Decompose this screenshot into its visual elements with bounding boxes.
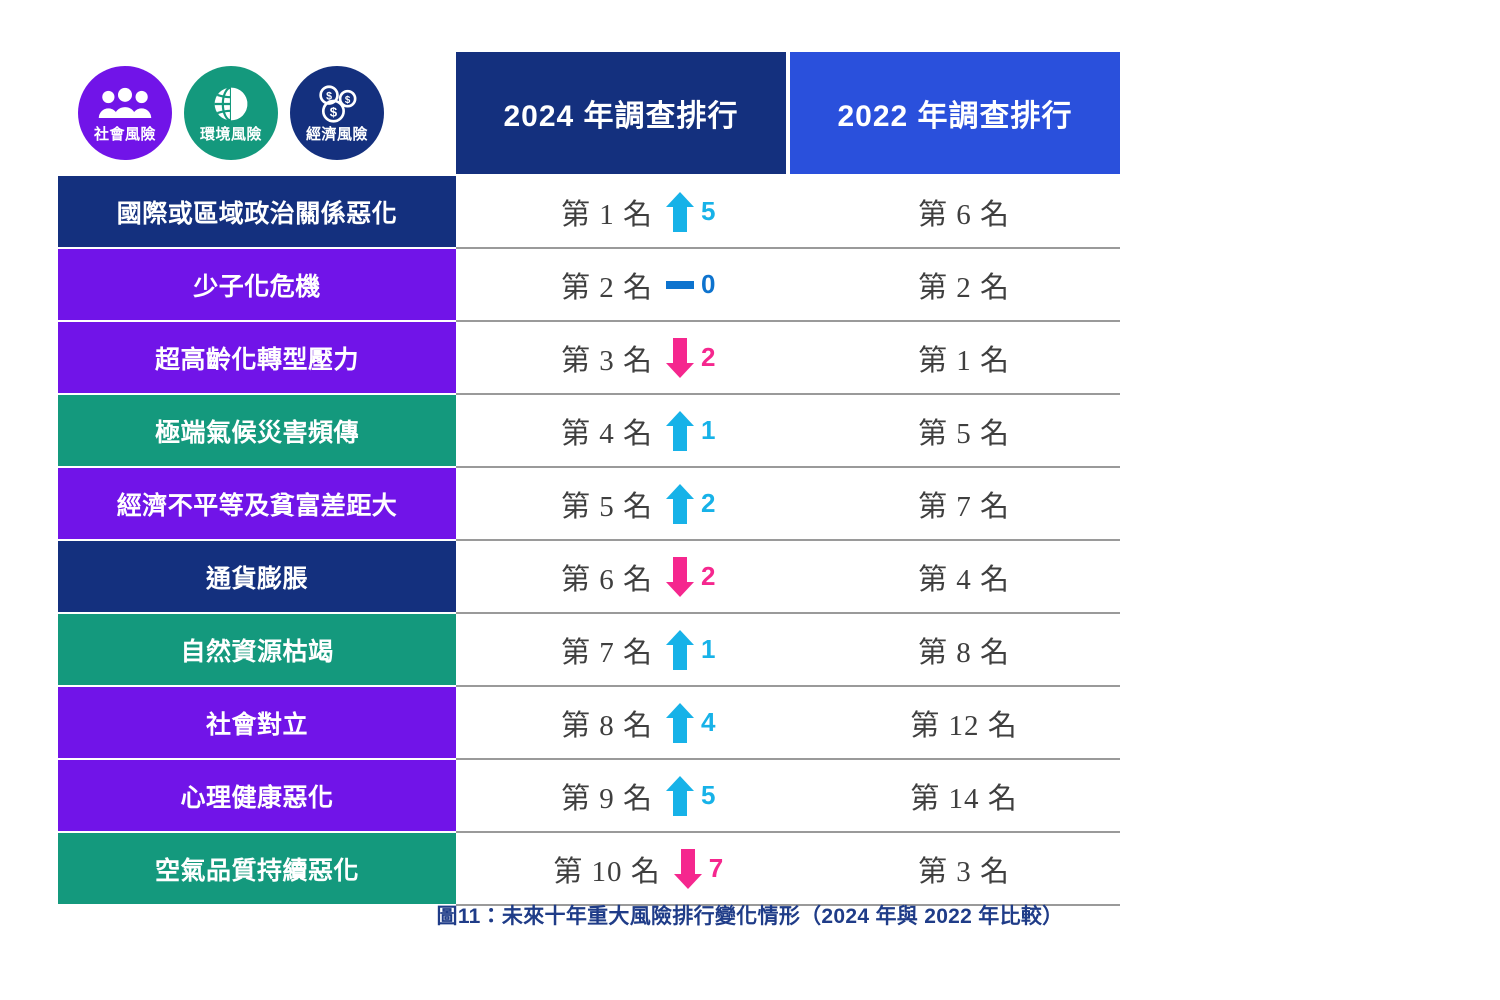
risk-name-cell: 自然資源枯竭 [58,614,456,687]
coins-icon: $ $ $ [314,83,360,125]
rank-2024-label: 第 5 名 [561,483,653,525]
globe-icon [211,83,251,125]
rank-change-indicator: 2 [665,555,743,599]
risk-name-cell: 少子化危機 [58,249,456,322]
arrow-down-icon [673,847,703,891]
rank-change-indicator: 4 [665,701,743,745]
risk-name-cell: 經濟不平等及貧富差距大 [58,468,456,541]
arrow-up-icon [665,190,695,234]
rank-change-indicator: 5 [665,774,743,818]
column-header-2022: 2022 年調查排行 [790,52,1120,174]
rank-2024-label: 第 9 名 [561,775,653,817]
rank-change-indicator: 1 [665,409,743,453]
rank-change-indicator: 0 [665,263,743,307]
rank-2022-cell: 第 12 名 [808,687,1120,758]
rank-2024-cell: 第 3 名2 [456,322,808,393]
rank-2024-cell: 第 2 名0 [456,249,808,320]
rank-change-indicator: 5 [665,190,743,234]
table-header-row: 社會風險 環境風險 [58,52,1120,174]
rank-2022-cell: 第 8 名 [808,614,1120,685]
rank-change-indicator: 1 [665,628,743,672]
risk-ranking-table: 社會風險 環境風險 [58,52,1120,906]
arrow-up-icon [665,409,695,453]
table-row: 極端氣候災害頻傳第 4 名1第 5 名 [58,395,1120,468]
rank-2024-cell: 第 4 名1 [456,395,808,466]
risk-name-label: 少子化危機 [193,267,321,303]
arrow-down-icon [665,336,695,380]
column-header-2022-label: 2022 年調查排行 [837,91,1072,135]
risk-name-cell: 極端氣候災害頻傳 [58,395,456,468]
risk-name-label: 國際或區域政治關係惡化 [117,194,398,230]
risk-name-label: 超高齡化轉型壓力 [155,340,359,376]
rank-2022-label: 第 2 名 [918,264,1010,306]
risk-name-cell: 社會對立 [58,687,456,760]
arrow-up-icon [665,774,695,818]
risk-name-label: 自然資源枯竭 [180,632,333,668]
rank-change-value: 2 [701,561,715,592]
rank-change-value: 5 [701,196,715,227]
table-row: 自然資源枯竭第 7 名1第 8 名 [58,614,1120,687]
rank-2024-cell: 第 6 名2 [456,541,808,612]
legend-item-economic: $ $ $ 經濟風險 [290,66,384,160]
rank-2022-cell: 第 3 名 [808,833,1120,904]
risk-name-label: 經濟不平等及貧富差距大 [117,486,398,522]
legend-item-social-label: 社會風險 [94,127,156,142]
arrow-up-icon [665,701,695,745]
legend: 社會風險 環境風險 [58,52,456,174]
arrow-down-icon [665,555,695,599]
risk-name-cell: 超高齡化轉型壓力 [58,322,456,395]
arrow-up-icon [665,482,695,526]
rank-2024-cell: 第 10 名7 [456,833,808,904]
table-row: 通貨膨脹第 6 名2第 4 名 [58,541,1120,614]
rank-change-value: 2 [701,488,715,519]
rank-2022-label: 第 7 名 [918,483,1010,525]
svg-text:$: $ [326,90,332,102]
table-row: 經濟不平等及貧富差距大第 5 名2第 7 名 [58,468,1120,541]
legend-item-social: 社會風險 [78,66,172,160]
legend-item-environment-label: 環境風險 [200,127,262,142]
rank-2022-label: 第 12 名 [910,702,1018,744]
rank-change-value: 2 [701,342,715,373]
rank-change-value: 1 [701,415,715,446]
rank-2024-label: 第 10 名 [553,848,661,890]
figure-caption: 圖11：未來十年重大風險排行變化情形（2024 年與 2022 年比較） [0,900,1500,930]
risk-ranking-figure: 社會風險 環境風險 [0,0,1500,1000]
rank-2022-label: 第 8 名 [918,629,1010,671]
rank-2022-label: 第 4 名 [918,556,1010,598]
rank-change-indicator: 2 [665,482,743,526]
rank-2024-cell: 第 1 名5 [456,176,808,247]
rank-change-indicator: 7 [673,847,751,891]
rank-2024-label: 第 1 名 [561,191,653,233]
rank-2022-cell: 第 5 名 [808,395,1120,466]
arrow-up-icon [665,628,695,672]
rank-2024-cell: 第 5 名2 [456,468,808,539]
risk-name-cell: 國際或區域政治關係惡化 [58,176,456,249]
rank-change-value: 0 [701,269,715,300]
rank-2022-label: 第 6 名 [918,191,1010,233]
svg-text:$: $ [330,104,338,119]
rank-2024-cell: 第 8 名4 [456,687,808,758]
risk-name-label: 極端氣候災害頻傳 [155,413,359,449]
rank-2024-label: 第 6 名 [561,556,653,598]
rank-2022-cell: 第 4 名 [808,541,1120,612]
rank-2022-cell: 第 6 名 [808,176,1120,247]
table-row: 空氣品質持續惡化第 10 名7第 3 名 [58,833,1120,906]
rank-change-value: 7 [709,853,723,884]
legend-item-economic-label: 經濟風險 [306,127,368,142]
legend-item-environment: 環境風險 [184,66,278,160]
table-row: 少子化危機第 2 名0第 2 名 [58,249,1120,322]
rank-2024-label: 第 3 名 [561,337,653,379]
rank-change-indicator: 2 [665,336,743,380]
rank-2022-cell: 第 2 名 [808,249,1120,320]
risk-name-cell: 心理健康惡化 [58,760,456,833]
risk-name-cell: 通貨膨脹 [58,541,456,614]
rank-2022-label: 第 3 名 [918,848,1010,890]
rank-change-value: 1 [701,634,715,665]
dash-flat-icon [665,263,695,307]
rank-change-value: 4 [701,707,715,738]
people-icon [97,83,153,125]
risk-name-cell: 空氣品質持續惡化 [58,833,456,906]
rank-2024-label: 第 2 名 [561,264,653,306]
table-row: 超高齡化轉型壓力第 3 名2第 1 名 [58,322,1120,395]
svg-text:$: $ [345,95,351,106]
rank-2022-cell: 第 7 名 [808,468,1120,539]
rank-2024-label: 第 4 名 [561,410,653,452]
table-body: 國際或區域政治關係惡化第 1 名5第 6 名少子化危機第 2 名0第 2 名超高… [58,174,1120,906]
table-row: 國際或區域政治關係惡化第 1 名5第 6 名 [58,174,1120,249]
rank-2022-label: 第 14 名 [910,775,1018,817]
rank-2024-cell: 第 9 名5 [456,760,808,831]
table-row: 社會對立第 8 名4第 12 名 [58,687,1120,760]
column-header-2024: 2024 年調查排行 [456,52,786,174]
risk-name-label: 空氣品質持續惡化 [155,851,359,887]
rank-2022-label: 第 1 名 [918,337,1010,379]
risk-name-label: 社會對立 [206,705,308,741]
risk-name-label: 通貨膨脹 [206,559,308,595]
rank-2024-label: 第 7 名 [561,629,653,671]
rank-2024-label: 第 8 名 [561,702,653,744]
column-header-2024-label: 2024 年調查排行 [503,91,738,135]
rank-2022-cell: 第 14 名 [808,760,1120,831]
rank-2022-label: 第 5 名 [918,410,1010,452]
table-row: 心理健康惡化第 9 名5第 14 名 [58,760,1120,833]
rank-change-value: 5 [701,780,715,811]
rank-2022-cell: 第 1 名 [808,322,1120,393]
risk-name-label: 心理健康惡化 [180,778,333,814]
rank-2024-cell: 第 7 名1 [456,614,808,685]
